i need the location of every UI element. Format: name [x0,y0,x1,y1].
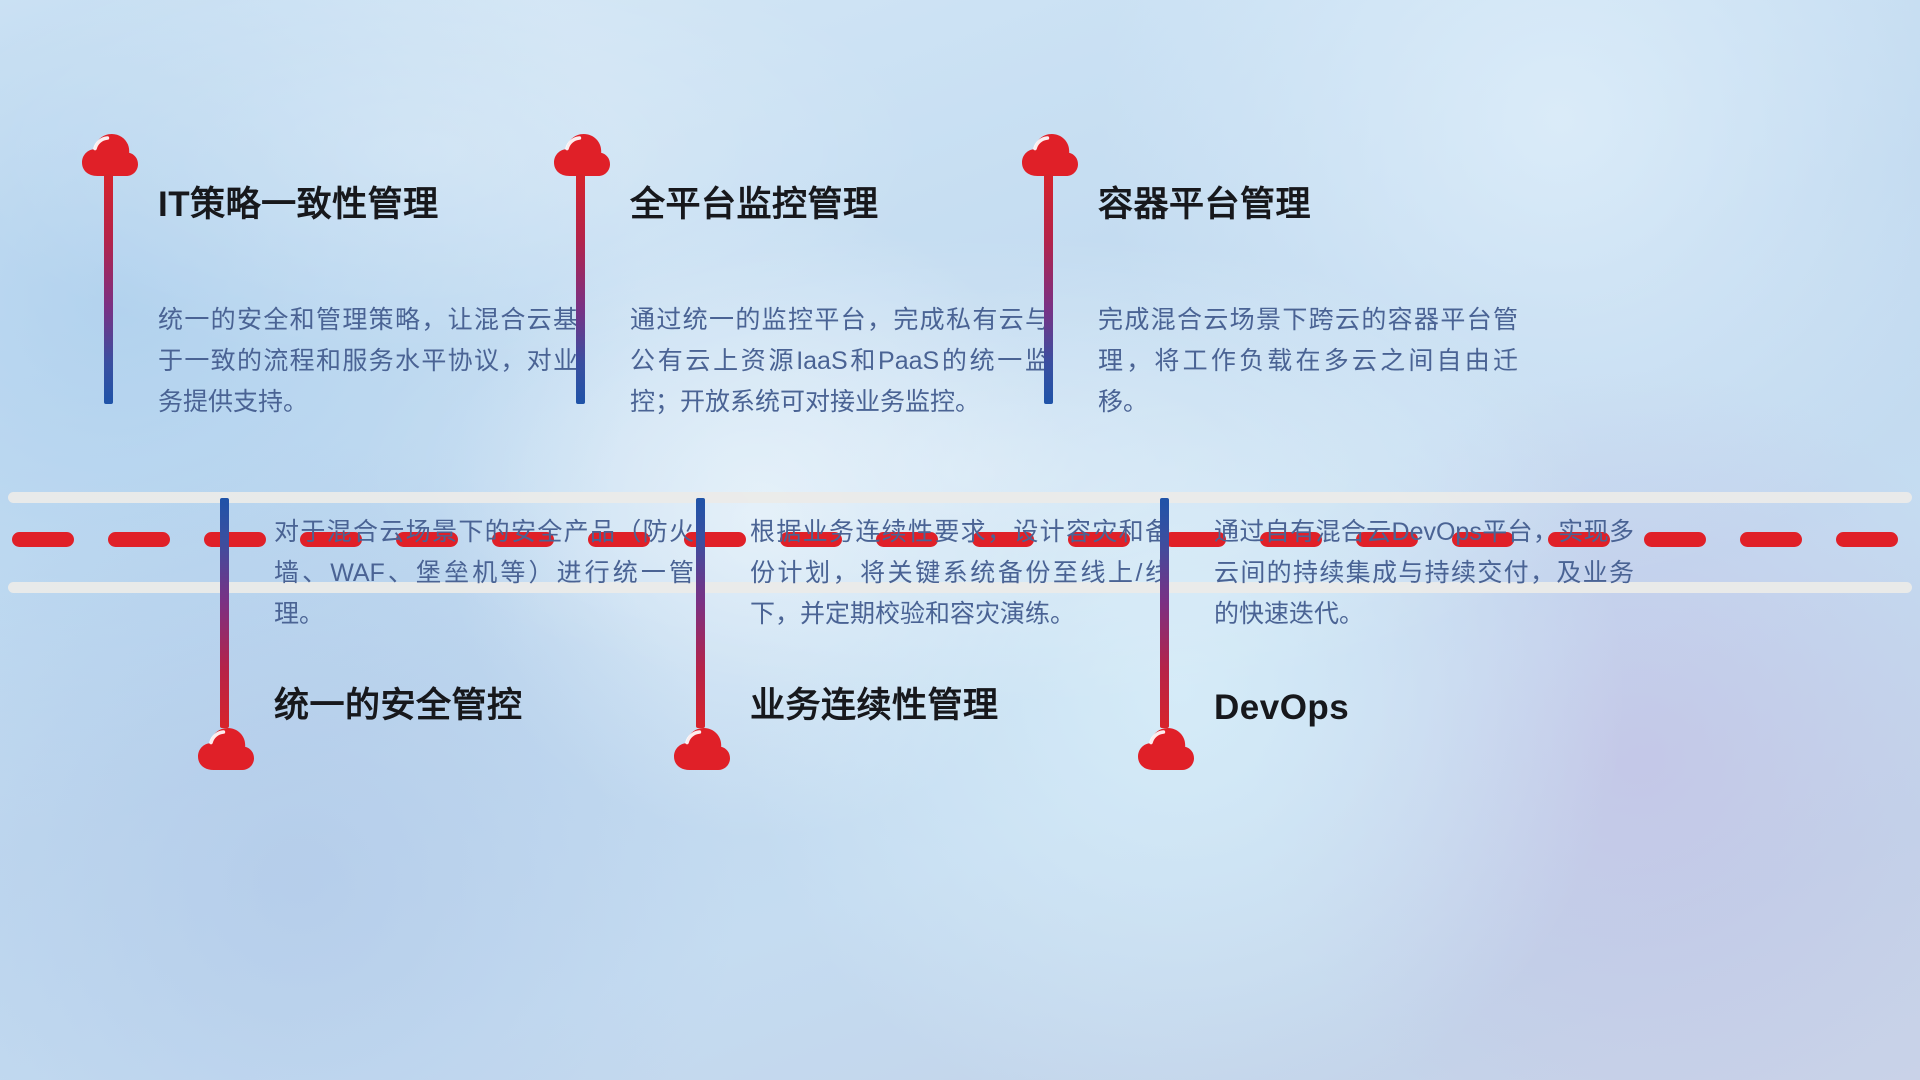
cloud-icon [1136,724,1196,772]
divider-line-upper [8,492,1912,503]
dash-segment [108,532,170,547]
feature-column-bottom-1: 对于混合云场景下的安全产品（防火墙、WAF、堡垒机等）进行统一管理。 统一的安全… [196,512,716,772]
cloud-icon [672,724,732,772]
dash-segment [1740,532,1802,547]
feature-description: 根据业务连续性要求，设计容灾和备份计划，将关键系统备份至线上/线下，并定期校验和… [750,512,1170,635]
feature-description: 通过统一的监控平台，完成私有云与公有云上资源IaaS和PaaS的统一监控；开放系… [630,300,1050,423]
cloud-icon [552,130,612,178]
feature-title: 统一的安全管控 [274,677,523,728]
feature-column-bottom-3: 通过自有混合云DevOps平台，实现多云间的持续集成与持续交付，及业务的快速迭代… [1136,512,1656,772]
feature-description: 完成混合云场景下跨云的容器平台管理，将工作负载在多云之间自由迁移。 [1098,300,1518,423]
feature-description: 对于混合云场景下的安全产品（防火墙、WAF、堡垒机等）进行统一管理。 [274,512,694,635]
feature-column-bottom-2: 根据业务连续性要求，设计容灾和备份计划，将关键系统备份至线上/线下，并定期校验和… [672,512,1192,772]
connector-line [576,174,585,404]
connector-line [104,174,113,404]
feature-title: DevOps [1214,688,1349,728]
connector-line [696,498,705,728]
feature-title: 全平台监控管理 [630,176,879,227]
cloud-icon [1020,130,1080,178]
connector-line [1044,174,1053,404]
feature-title: 容器平台管理 [1098,176,1311,227]
dash-segment [1836,532,1898,547]
feature-description: 统一的安全和管理策略，让混合云基于一致的流程和服务水平协议，对业务提供支持。 [158,300,578,423]
feature-title: IT策略一致性管理 [158,176,439,227]
cloud-icon [80,130,140,178]
connector-line [1160,498,1169,728]
feature-title: 业务连续性管理 [750,677,999,728]
infographic-canvas: IT策略一致性管理 统一的安全和管理策略，让混合云基于一致的流程和服务水平协议，… [0,0,1920,1080]
feature-description: 通过自有混合云DevOps平台，实现多云间的持续集成与持续交付，及业务的快速迭代… [1214,512,1634,635]
dash-segment [12,532,74,547]
connector-line [220,498,229,728]
cloud-icon [196,724,256,772]
